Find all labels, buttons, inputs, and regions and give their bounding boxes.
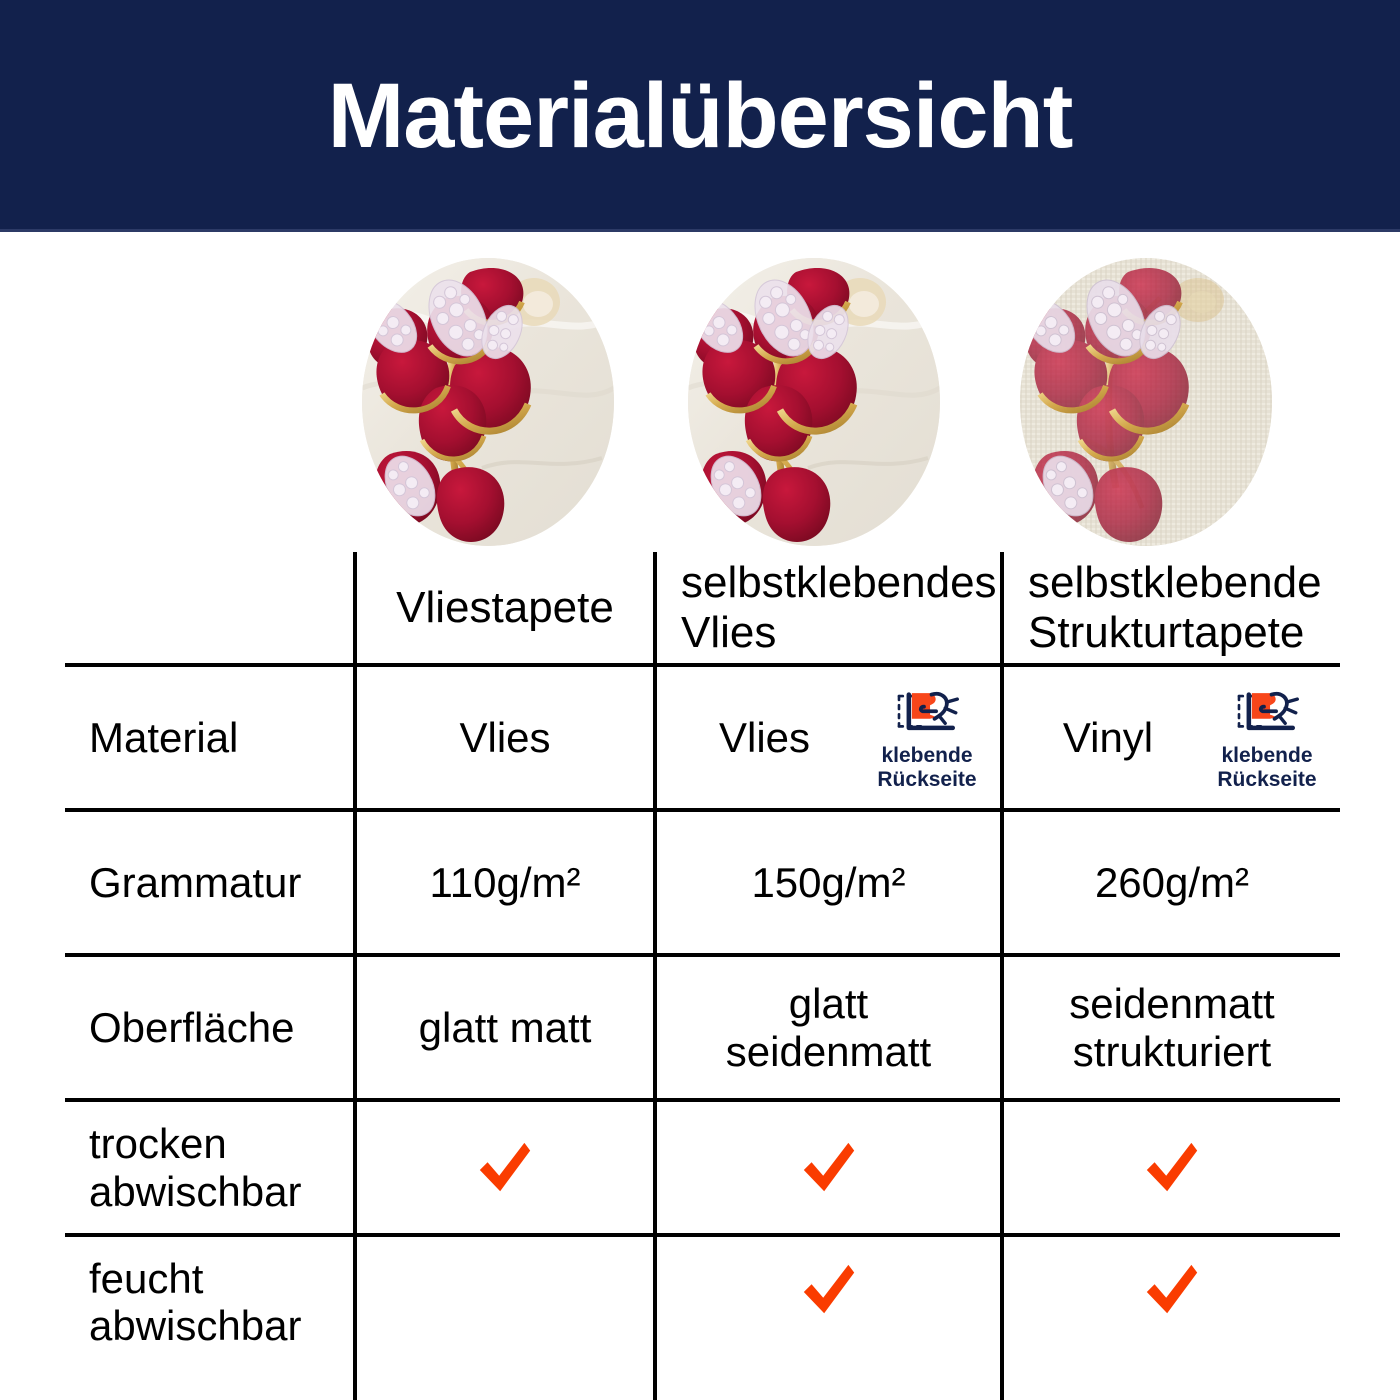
check-mark-icon (798, 1137, 860, 1199)
row-label-trocken-abwischbar: trocken abwischbar (65, 1102, 353, 1233)
row-label-oberflaeche: Oberfläche (65, 957, 353, 1098)
adhesive-backing-badge-2: klebende Rückseite (1208, 684, 1326, 791)
row-label-feucht-abwischbar: feucht abwischbar (65, 1237, 353, 1400)
thumbnail-selbstklebende-strukturtapete[interactable] (1020, 258, 1272, 546)
column-header-selbstklebende-strukturtapete: selbstklebende Strukturtapete (1004, 552, 1340, 663)
cell-trocken-selbstklebende-strukturtapete (1004, 1102, 1340, 1233)
material-value-text: Vlies (661, 714, 868, 762)
page-header-banner: Materialübersicht (0, 0, 1400, 231)
flower-artwork-1 (362, 258, 614, 546)
adhesive-backing-icon (1229, 684, 1305, 740)
check-mark-icon (1141, 1137, 1203, 1199)
check-mark-icon (798, 1259, 860, 1321)
cell-material-selbstklebendes-vlies: Vlies (657, 667, 1000, 808)
column-header-selbstklebendes-vlies: selbstklebendes Vlies (657, 552, 1000, 663)
check-mark-icon (1141, 1259, 1203, 1321)
page-title: Materialübersicht (328, 70, 1073, 162)
cell-feucht-selbstklebendes-vlies (657, 1237, 1000, 1400)
cell-feucht-vliestapete (357, 1237, 653, 1400)
cell-grammatur-selbstklebendes-vlies: 150g/m² (657, 812, 1000, 953)
adhesive-backing-icon (889, 684, 965, 740)
material-value-text: Vinyl (1008, 714, 1208, 762)
column-header-vliestapete: Vliestapete (357, 552, 653, 663)
material-thumbnail-row (0, 258, 1400, 548)
row-label-material: Material (65, 667, 353, 808)
adhesive-backing-badge-1: klebende Rückseite (868, 684, 986, 791)
adhesive-backing-label: klebende Rückseite (877, 744, 976, 791)
row-label-grammatur: Grammatur (65, 812, 353, 953)
table-header-corner (65, 552, 353, 663)
flower-artwork-3 (1020, 258, 1272, 546)
cell-feucht-selbstklebende-strukturtapete (1004, 1237, 1340, 1400)
check-mark-icon (474, 1137, 536, 1199)
material-comparison-table: Vliestapete selbstklebendes Vlies selbst… (65, 552, 1340, 1400)
cell-material-vliestapete: Vlies (357, 667, 653, 808)
adhesive-backing-label: klebende Rückseite (1217, 744, 1316, 791)
cell-oberflaeche-selbstklebendes-vlies: glatt seidenmatt (657, 957, 1000, 1098)
cell-grammatur-selbstklebende-strukturtapete: 260g/m² (1004, 812, 1340, 953)
cell-trocken-selbstklebendes-vlies (657, 1102, 1000, 1233)
cell-grammatur-vliestapete: 110g/m² (357, 812, 653, 953)
banner-underline (0, 229, 1400, 232)
cell-oberflaeche-selbstklebende-strukturtapete: seidenmatt strukturiert (1004, 957, 1340, 1098)
cell-oberflaeche-vliestapete: glatt matt (357, 957, 653, 1098)
cell-material-selbstklebende-strukturtapete: Vinyl kl (1004, 667, 1340, 808)
cell-trocken-vliestapete (357, 1102, 653, 1233)
thumbnail-selbstklebendes-vlies[interactable] (688, 258, 940, 546)
flower-artwork-2 (688, 258, 940, 546)
thumbnail-vliestapete[interactable] (362, 258, 614, 546)
